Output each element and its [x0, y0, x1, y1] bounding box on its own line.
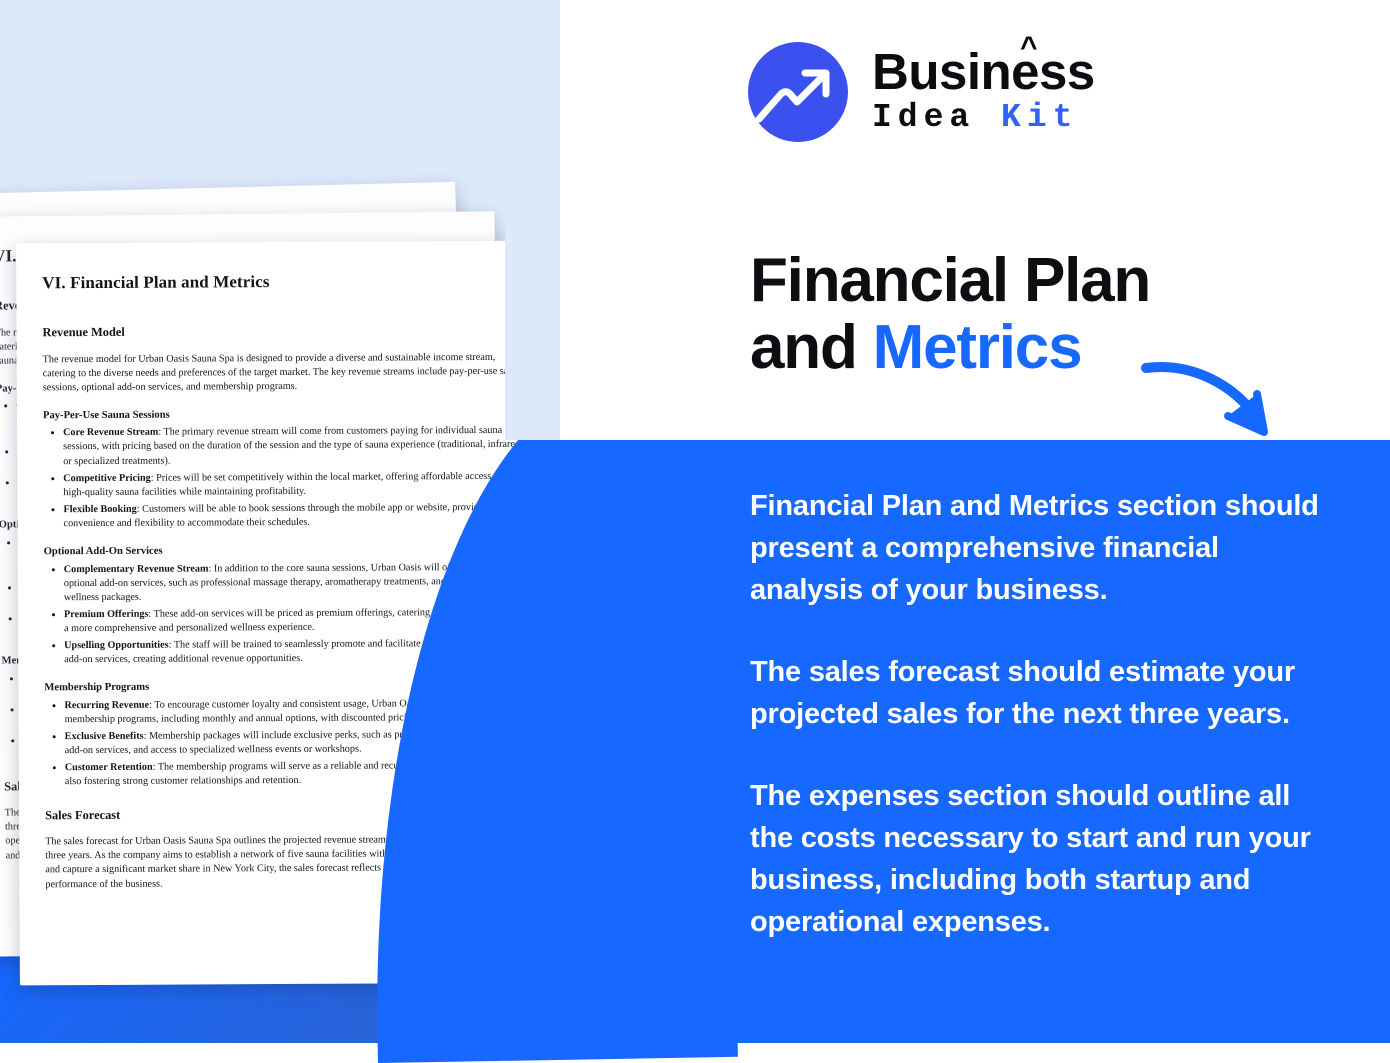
doc-list-item: Flexible Booking: Customers will be able… — [63, 501, 527, 532]
doc-sub-heading: Pay-Per-Use Sauna Sessions — [43, 407, 527, 424]
doc-list-item: Core Revenue Stream: The primary revenue… — [63, 424, 527, 469]
description-panel: Financial Plan and Metrics section shoul… — [690, 440, 1390, 1043]
document-page-stack: VI. Financial Plan and Metrics Revenue M… — [0, 0, 700, 1043]
growth-arrow-circle-icon — [748, 42, 848, 142]
doc-list-item: Exclusive Benefits: Membership packages … — [65, 728, 529, 759]
doc-list-item: Complementary Revenue Stream: In additio… — [64, 560, 528, 605]
doc-sub-heading: Membership Programs — [44, 679, 528, 696]
document-page-front: VI. Financial Plan and Metrics Revenue M… — [16, 241, 556, 986]
page-title-prefix: and — [750, 313, 873, 382]
brand-logo[interactable]: Business ^ Idea Kit — [748, 42, 1095, 142]
doc-paragraph: The revenue model for Urban Oasis Sauna … — [43, 350, 527, 395]
panel-paragraph-1: Financial Plan and Metrics section shoul… — [750, 485, 1338, 611]
brand-name-kit: Kit — [1001, 99, 1078, 136]
doc-list-item: Upselling Opportunities: The staff will … — [64, 637, 528, 668]
brand-name-line1: Business ^ — [872, 46, 1095, 97]
doc-paragraph: The sales forecast for Urban Oasis Sauna… — [45, 833, 529, 892]
brand-name-idea: Idea — [872, 99, 975, 136]
page-title-line1: Financial Plan — [750, 248, 1310, 315]
doc-list: Recurring Revenue: To encourage customer… — [44, 696, 528, 789]
brand-name-text: Business — [872, 43, 1095, 100]
doc-list-item: Customer Retention: The membership progr… — [65, 759, 529, 790]
doc-sub-heading: Optional Add-On Services — [44, 543, 528, 560]
doc-list: Core Revenue Stream: The primary revenue… — [43, 424, 528, 531]
brand-wordmark: Business ^ Idea Kit — [872, 46, 1095, 138]
doc-list-item: Premium Offerings: These add-on services… — [64, 606, 528, 637]
circumflex-accent-icon: ^ — [1020, 33, 1037, 63]
doc-section-heading: Sales Forecast — [45, 805, 529, 825]
panel-paragraph-3: The expenses section should outline all … — [750, 775, 1338, 943]
doc-title: VI. Financial Plan and Metrics — [42, 269, 526, 295]
doc-list-item: Competitive Pricing: Prices will be set … — [63, 469, 527, 500]
doc-section-heading: Revenue Model — [42, 322, 526, 342]
brand-name-line2: Idea Kit — [872, 99, 1095, 138]
page-title-accent: Metrics — [873, 313, 1082, 382]
panel-paragraph-2: The sales forecast should estimate your … — [750, 651, 1338, 735]
doc-list: Complementary Revenue Stream: In additio… — [44, 560, 529, 667]
doc-list-item: Recurring Revenue: To encourage customer… — [64, 696, 528, 727]
curved-arrow-down-right-icon — [1140, 352, 1290, 447]
